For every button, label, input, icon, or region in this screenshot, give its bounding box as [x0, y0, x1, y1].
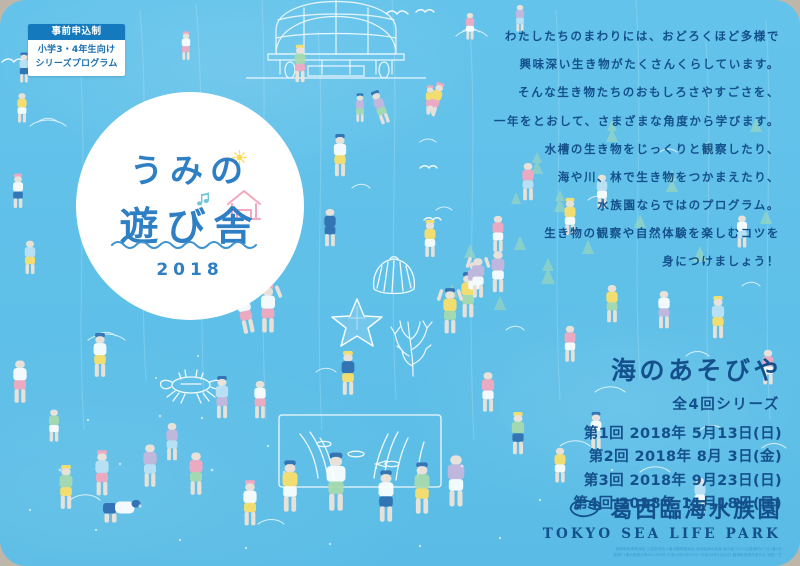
intro-line: 生き物の観察や自然体験を楽しむコツを	[480, 219, 780, 247]
badge-line-2: シリーズプログラム	[28, 58, 125, 72]
logo-year: 2018	[76, 260, 304, 280]
park-name-en: TOKYO SEA LIFE PARK	[532, 526, 781, 542]
badge-line-1: 小学3・4年生向け	[28, 44, 125, 58]
intro-line: わたしたちのまわりには、おどろくほど多様で	[480, 22, 780, 50]
park-name-jp: 葛西臨海水族園	[610, 492, 782, 524]
poster-root: .p{opacity:.92} .hd{fill:#f3e4d8} .lg{fi…	[0, 0, 800, 566]
poster-canvas: .p{opacity:.92} .hd{fill:#f3e4d8} .lg{fi…	[0, 0, 800, 566]
intro-line: 興味深い生き物がたくさんくらしています。	[480, 50, 780, 78]
park-logo-block: 葛西臨海水族園 TOKYO SEA LIFE PARK 動物取扱業登録証 公益財…	[532, 492, 782, 559]
logo-content: うみの 遊び舎 2018	[76, 92, 304, 320]
series-date-row: 第1回 2018年 5月13日(日)	[462, 423, 782, 446]
series-date-row: 第2回 2018年 8月 3日(金)	[462, 446, 782, 469]
series-date-row: 第3回 2018年 9月23日(日)	[462, 470, 782, 493]
intro-line: 水槽の生き物をじっくりと観察したり、	[480, 135, 780, 163]
park-fineprint: 動物取扱業登録証 公益財団法人東京動物園協会 葛西臨海水族園 東京都江戸川区臨海…	[532, 547, 782, 559]
fish-icon	[567, 497, 603, 519]
pre-registration-badge: 事前申込制 小学3・4年生向け シリーズプログラム	[28, 24, 125, 76]
park-logo-row: 葛西臨海水族園	[532, 492, 782, 524]
fineprint-line-2: 登録17東京都展示第001489号 平成19年5月29日〜平成34年5月28日 …	[532, 553, 782, 559]
wave-underline	[110, 238, 272, 250]
intro-line: 海や川、林で生き物をつかまえたり、	[480, 163, 780, 191]
intro-line: 身につけましょう！	[480, 247, 780, 275]
badge-body: 小学3・4年生向け シリーズプログラム	[28, 40, 125, 76]
logo-line-1: うみの	[76, 144, 304, 192]
series-subtitle: 全4回シリーズ	[462, 393, 780, 414]
intro-line: 一年をとおして、さまざまな角度から学びます。	[480, 107, 780, 135]
badge-header: 事前申込制	[28, 24, 125, 40]
intro-line: 水族園ならではのプログラム。	[480, 191, 780, 219]
intro-line: そんな生き物たちのおもしろさやすごさを、	[480, 78, 780, 106]
intro-paragraph: わたしたちのまわりには、おどろくほど多様で 興味深い生き物がたくさんくらしていま…	[480, 22, 780, 276]
series-title: 海のあそびや	[462, 356, 782, 386]
logo-circle: うみの 遊び舎 2018	[76, 92, 304, 320]
